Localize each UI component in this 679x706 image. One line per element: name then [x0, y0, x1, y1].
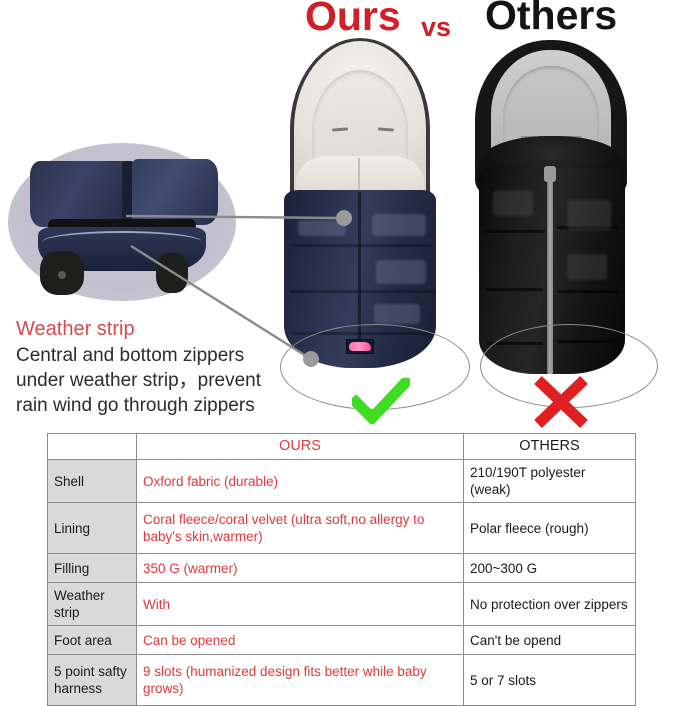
- cross-mark-icon: [532, 376, 590, 428]
- ours-quilt-line: [292, 244, 432, 247]
- table-row: Shell Oxford fabric (durable) 210/190T p…: [48, 460, 636, 503]
- row-others-lining: Polar fleece (rough): [464, 503, 636, 554]
- row-label-foot-area: Foot area: [48, 626, 137, 655]
- others-quilt-line: [485, 288, 543, 291]
- comparison-table: OURS OTHERS Shell Oxford fabric (durable…: [47, 433, 636, 706]
- infographic-canvas: Ours vs Others: [0, 0, 679, 679]
- others-quilt-line: [485, 230, 545, 233]
- table-row: Lining Coral fleece/coral velvet (ultra …: [48, 503, 636, 554]
- heading-vs: vs: [421, 14, 451, 41]
- row-others-weather-strip: No protection over zippers: [464, 583, 636, 626]
- table-row: Filling 350 G (warmer) 200~300 G: [48, 554, 636, 583]
- row-label-shell: Shell: [48, 460, 137, 503]
- heading-others: Others: [485, 0, 617, 36]
- ours-fabric-highlight: [298, 220, 346, 236]
- others-zipper-pull: [544, 166, 556, 182]
- row-ours-weather-strip: With: [137, 583, 464, 626]
- inset-weather-strip-detail: [8, 143, 236, 301]
- ours-fabric-highlight: [372, 214, 426, 236]
- inset-stroller-wheel-right: [156, 253, 188, 293]
- ours-fabric-highlight: [374, 304, 420, 324]
- inset-wheel-hub: [58, 271, 66, 279]
- others-fabric-highlight: [567, 200, 611, 230]
- table-header-blank: [48, 434, 137, 460]
- others-fabric-highlight: [567, 254, 607, 280]
- table-row: Foot area Can be opened Can't be opend: [48, 626, 636, 655]
- table-header-row: OURS OTHERS: [48, 434, 636, 460]
- table-header-others: OTHERS: [464, 434, 636, 460]
- weather-strip-caption: Weather strip Central and bottom zippers…: [16, 316, 284, 418]
- inset-right-panel: [132, 159, 218, 225]
- row-ours-filling: 350 G (warmer): [137, 554, 464, 583]
- row-label-filling: Filling: [48, 554, 137, 583]
- row-others-filling: 200~300 G: [464, 554, 636, 583]
- others-quilt-line: [557, 290, 619, 293]
- inset-reflective-piping: [42, 231, 202, 253]
- row-others-harness: 5 or 7 slots: [464, 655, 636, 706]
- row-label-lining: Lining: [48, 503, 137, 554]
- inset-left-panel: [30, 161, 128, 227]
- table-header: OURS OTHERS: [48, 434, 636, 460]
- row-others-shell: 210/190T polyester (weak): [464, 460, 636, 503]
- table-row: Weather strip With No protection over zi…: [48, 583, 636, 626]
- table-row: 5 point safty harness 9 slots (humanized…: [48, 655, 636, 706]
- others-fabric-highlight: [493, 190, 533, 216]
- table-header-ours: OURS: [137, 434, 464, 460]
- heading-ours: Ours: [305, 0, 401, 37]
- row-ours-lining: Coral fleece/coral velvet (ultra soft,no…: [137, 503, 464, 554]
- row-ours-shell: Oxford fabric (durable): [137, 460, 464, 503]
- row-others-foot-area: Can't be opend: [464, 626, 636, 655]
- row-ours-harness: 9 slots (humanized design fits better wh…: [137, 655, 464, 706]
- caption-body: Central and bottom zippers under weather…: [16, 343, 284, 418]
- ours-fabric-highlight: [376, 260, 426, 284]
- check-mark-icon: [352, 378, 410, 424]
- row-ours-foot-area: Can be opened: [137, 626, 464, 655]
- caption-title: Weather strip: [16, 316, 284, 342]
- table-body: Shell Oxford fabric (durable) 210/190T p…: [48, 460, 636, 706]
- row-label-harness: 5 point safty harness: [48, 655, 137, 706]
- row-label-weather-strip: Weather strip: [48, 583, 137, 626]
- ours-quilt-line: [290, 290, 436, 293]
